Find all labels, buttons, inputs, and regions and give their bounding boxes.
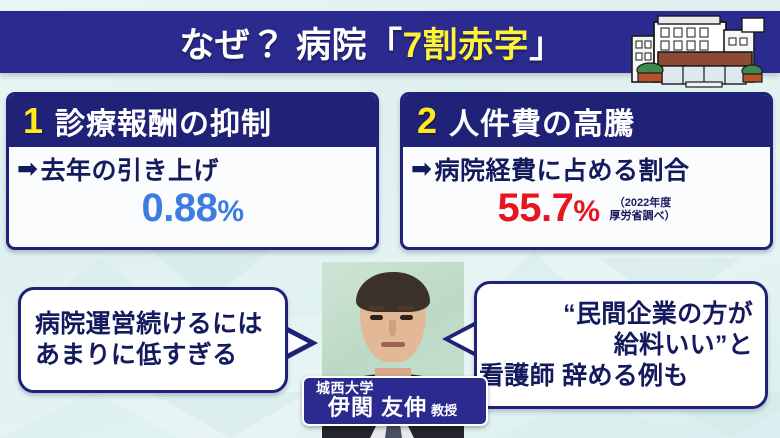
panel-2-heading: 人件費の高騰	[449, 99, 635, 143]
title-bracket-open: 「	[367, 26, 403, 65]
panel-2-note-line-1: （2022年度	[614, 197, 671, 209]
arrow-right-icon: ➡	[17, 157, 38, 182]
portrait-eyebrow-left	[368, 306, 385, 310]
arrow-right-icon: ➡	[411, 157, 432, 182]
panel-2-header: 2 人件費の高騰	[403, 95, 770, 147]
portrait-eyebrow-right	[397, 306, 414, 310]
panel-2-number: 2	[417, 103, 437, 139]
panel-1-value-row: 0.88%	[17, 188, 368, 228]
panel-2-value-number: 55.7	[497, 186, 573, 230]
panel-2-value-unit: %	[573, 195, 599, 228]
facet-shape	[20, 72, 140, 94]
title-text-main: なぜ？ 病院	[179, 26, 367, 65]
quote-left-line-1: 病院運営続けるには	[35, 309, 285, 340]
panel-2-body: ➡ 病院経費に占める割合 55.7% （2022年度 厚労省調べ）	[403, 147, 770, 247]
panel-1-number: 1	[23, 103, 43, 139]
expert-name-row: 伊関 友伸 教授	[316, 396, 486, 419]
portrait-mouth	[381, 342, 405, 347]
quote-bubble-right: “民間企業の方が 給料いい”と 看護師 辞める例も	[474, 281, 768, 409]
facet-shape	[150, 392, 310, 438]
factor-panel-1: 1 診療報酬の抑制 ➡ 去年の引き上げ 0.88%	[6, 92, 379, 250]
hospital-building-icon	[630, 8, 776, 88]
quote-right-line-3: 看護師 辞める例も	[477, 361, 753, 392]
panel-2-value: 55.7%	[497, 188, 599, 228]
portrait-eye-right	[400, 315, 413, 320]
title-accent-text: 7割赤字	[403, 26, 529, 65]
panel-1-value-unit: %	[217, 195, 243, 228]
panel-1-body: ➡ 去年の引き上げ 0.88%	[9, 147, 376, 247]
panel-1-heading: 診療報酬の抑制	[55, 99, 272, 143]
panel-2-note-line-2: 厚労省調べ）	[610, 210, 676, 222]
panel-1-value-number: 0.88	[141, 186, 217, 230]
quote-right-line-1: “民間企業の方が	[477, 299, 753, 330]
portrait-eye-left	[370, 315, 383, 320]
panel-1-detail-line: ➡ 去年の引き上げ	[17, 151, 368, 187]
portrait-hair	[356, 272, 430, 312]
factor-panel-2: 2 人件費の高騰 ➡ 病院経費に占める割合 55.7% （2022年度 厚労省調…	[400, 92, 773, 250]
quote-left-line-2: あまりに低すぎる	[35, 340, 285, 371]
panel-1-header: 1 診療報酬の抑制	[9, 95, 376, 147]
panel-1-detail-text: 去年の引き上げ	[40, 151, 219, 187]
expert-nameplate: 城西大学 伊関 友伸 教授	[302, 376, 488, 426]
page-title: なぜ？ 病院「7割赤字」	[179, 17, 564, 68]
bubble-right-tail-fill	[450, 326, 475, 352]
panel-1-value: 0.88%	[141, 188, 243, 228]
title-bracket-close: 」	[529, 26, 565, 65]
quote-bubble-left: 病院運営続けるには あまりに低すぎる	[18, 287, 288, 393]
expert-name: 伊関 友伸	[328, 396, 427, 419]
quote-right-line-2: 給料いい”と	[477, 330, 753, 361]
expert-title: 教授	[431, 400, 457, 419]
panel-2-source-note: （2022年度 厚労省調べ）	[610, 197, 676, 225]
portrait-nose	[389, 320, 396, 336]
facet-shape	[0, 392, 180, 438]
expert-affiliation: 城西大学	[316, 381, 486, 396]
infographic-root: なぜ？ 病院「7割赤字」 1 診療報	[0, 0, 780, 438]
panel-2-detail-line: ➡ 病院経費に占める割合	[411, 151, 762, 187]
panel-2-detail-text: 病院経費に占める割合	[434, 151, 689, 187]
panel-2-value-row: 55.7% （2022年度 厚労省調べ）	[411, 188, 762, 228]
